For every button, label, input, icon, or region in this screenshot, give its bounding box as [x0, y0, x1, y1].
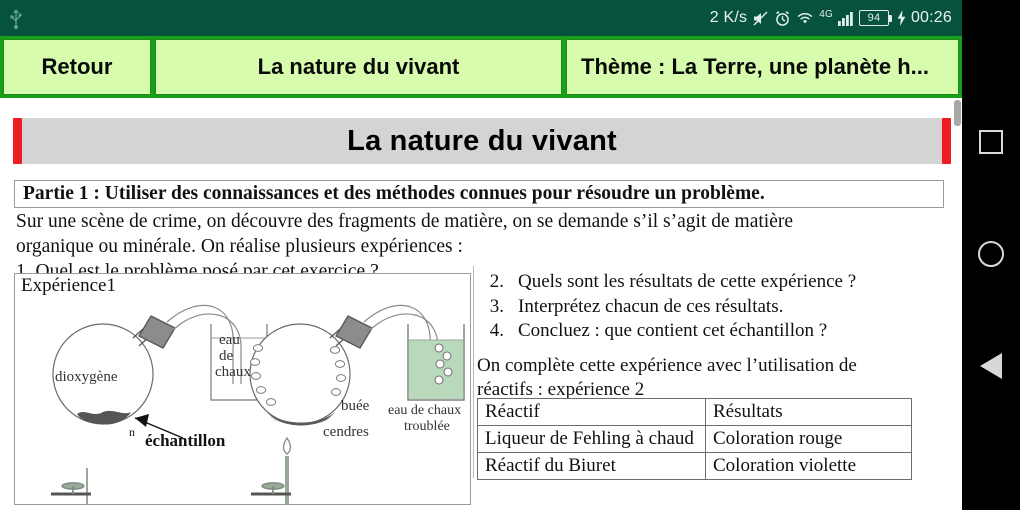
- status-bar: 2 K/s: [0, 0, 962, 36]
- label-de: de: [219, 348, 234, 364]
- document-title-banner: La nature du vivant: [13, 118, 951, 164]
- network-speed-label: 2 K/s: [710, 9, 747, 27]
- charging-bolt-icon: [897, 10, 906, 26]
- title-accent-right: [942, 118, 951, 164]
- home-button[interactable]: [962, 225, 1020, 283]
- question-text: Interprétez chacun de ces résultats.: [518, 295, 783, 320]
- back-nav-button[interactable]: [962, 337, 1020, 395]
- back-triangle-icon: [980, 353, 1002, 379]
- question-number: 3.: [480, 295, 518, 320]
- table-row: Réactif du Biuret Coloration violette: [478, 453, 912, 480]
- column-header-reactif: Réactif: [478, 399, 706, 426]
- reactifs-table: Réactif Résultats Liqueur de Fehling à c…: [477, 398, 912, 480]
- question-number: 4.: [480, 319, 518, 344]
- label-dioxygene: dioxygène: [55, 369, 118, 385]
- network-type-label: 4G: [819, 9, 833, 20]
- list-item: 4. Concluez : que contient cet échantill…: [480, 319, 950, 344]
- column-header-resultats: Résultats: [706, 399, 912, 426]
- mute-icon: [752, 10, 769, 27]
- cell-reactif: Réactif du Biuret: [478, 453, 706, 480]
- lesson-title-button[interactable]: La nature du vivant: [155, 39, 562, 95]
- status-bar-right: 2 K/s: [710, 9, 952, 27]
- status-bar-left: [8, 7, 24, 29]
- complement-paragraph: On complète cette expérience avec l’util…: [477, 354, 942, 402]
- recents-square-icon: [979, 130, 1003, 154]
- wifi-icon: [796, 10, 814, 26]
- title-accent-left: [13, 118, 22, 164]
- document-title-box: La nature du vivant: [22, 118, 942, 164]
- questions-list: 2. Quels sont les résultats de cette exp…: [480, 270, 950, 344]
- app-toolbar: Retour La nature du vivant Thème : La Te…: [0, 36, 962, 98]
- partie-heading-box: Partie 1 : Utiliser des connaissances et…: [14, 180, 944, 208]
- recents-button[interactable]: [962, 113, 1020, 171]
- experiment-label: Expérience1: [21, 275, 116, 297]
- usb-icon: [8, 7, 24, 29]
- table-row: Liqueur de Fehling à chaud Coloration ro…: [478, 426, 912, 453]
- vertical-scrollbar[interactable]: [954, 100, 961, 126]
- list-item: 2. Quels sont les résultats de cette exp…: [480, 270, 950, 295]
- page-title: La nature du vivant: [347, 125, 617, 158]
- intro-line-2: organique ou minérale. On réalise plusie…: [16, 235, 916, 260]
- clock-label: 00:26: [911, 9, 952, 27]
- label-echantillon-mark: n: [129, 425, 135, 439]
- question-text: Quels sont les résultats de cette expéri…: [518, 270, 856, 295]
- cell-resultat: Coloration violette: [706, 453, 912, 480]
- intro-line-1: Sur une scène de crime, on découvre des …: [16, 210, 916, 235]
- label-buee: buée: [341, 398, 370, 414]
- right-column-divider: [473, 266, 474, 478]
- document-page[interactable]: La nature du vivant Partie 1 : Utiliser …: [0, 98, 962, 510]
- complement-line-1: On complète cette expérience avec l’util…: [477, 354, 942, 378]
- battery-level-label: 94: [859, 10, 889, 26]
- label-chaux: chaux: [215, 364, 251, 380]
- partie-heading: Partie 1 : Utiliser des connaissances et…: [23, 183, 765, 205]
- cell-resultat: Coloration rouge: [706, 426, 912, 453]
- battery-icon: 94: [859, 10, 892, 26]
- question-text: Concluez : que contient cet échantillon …: [518, 319, 827, 344]
- label-cendres: cendres: [323, 424, 369, 440]
- back-button[interactable]: Retour: [3, 39, 151, 95]
- home-circle-icon: [978, 241, 1004, 267]
- label-eau-troublee-2: troublée: [404, 419, 450, 434]
- label-echantillon: échantillon: [145, 431, 226, 450]
- theme-button[interactable]: Thème : La Terre, une planète h...: [566, 39, 959, 95]
- label-eau: eau: [219, 332, 240, 348]
- signal-bars-icon: [838, 10, 854, 26]
- experiment-figure: Expérience1: [14, 273, 471, 505]
- phone-screen: 2 K/s: [0, 0, 1020, 510]
- cell-reactif: Liqueur de Fehling à chaud: [478, 426, 706, 453]
- android-navigation-bar: [962, 0, 1020, 510]
- list-item: 3. Interprétez chacun de ces résultats.: [480, 295, 950, 320]
- experiment-diagram: dioxygène eau de chaux n échantillon bué…: [15, 296, 470, 504]
- label-eau-troublee-1: eau de chaux: [388, 403, 461, 418]
- question-number: 2.: [480, 270, 518, 295]
- alarm-icon: [774, 10, 791, 27]
- table-header-row: Réactif Résultats: [478, 399, 912, 426]
